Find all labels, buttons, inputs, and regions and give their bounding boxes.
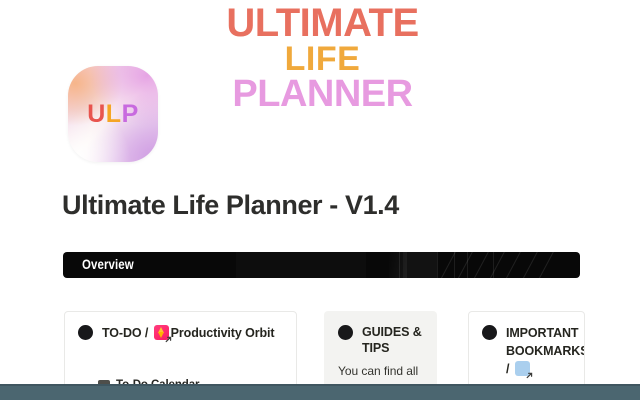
logo-letter-l: L <box>106 100 122 128</box>
page-title[interactable]: Ultimate Life Planner - V1.4 <box>62 190 399 221</box>
card-title-suffix: Productivity Orbit <box>171 326 275 340</box>
bullet-dot-icon <box>338 325 353 340</box>
logo-letter-p: P <box>122 100 139 128</box>
card-title-prefix: TO-DO / <box>102 326 152 340</box>
card-title-slash: / <box>506 362 513 376</box>
overview-banner[interactable]: Overview <box>63 252 580 278</box>
ulp-logo-text: ULP <box>87 100 139 129</box>
blue-chip-icon <box>515 361 530 376</box>
logo-letter-u: U <box>87 100 106 128</box>
bolt-chip-icon <box>154 325 169 340</box>
card-title-wrap: IMPORTANT BOOKMARKS / <box>506 324 571 378</box>
external-link-arrow-icon <box>525 371 534 380</box>
card-title-line2: BOOKMARKS <box>506 344 585 358</box>
page-root: ULP ULTIMATE LIFE PLANNER Ultimate Life … <box>0 0 640 400</box>
wordmark-line-ultimate: ULTIMATE <box>215 4 430 43</box>
bullet-dot-icon <box>78 325 93 340</box>
bottom-app-strip[interactable] <box>0 386 640 400</box>
hero-banner: ULP ULTIMATE LIFE PLANNER <box>0 0 640 180</box>
card-header: TO-DO / Productivity Orbit <box>78 324 283 342</box>
card-title-line1: IMPORTANT <box>506 326 578 340</box>
card-title: GUIDES & TIPS <box>362 324 423 356</box>
bullet-dot-icon <box>482 325 497 340</box>
card-header: IMPORTANT BOOKMARKS / <box>482 324 571 378</box>
hero-wordmark: ULTIMATE LIFE PLANNER <box>215 4 430 113</box>
overview-banner-texture <box>63 252 580 278</box>
card-header: GUIDES & TIPS <box>338 324 423 356</box>
external-link-arrow-icon <box>164 335 173 344</box>
wordmark-line-planner: PLANNER <box>215 76 430 113</box>
wordmark-line-life: LIFE <box>215 43 430 76</box>
ulp-logo: ULP <box>68 66 158 162</box>
card-title-wrap: TO-DO / Productivity Orbit <box>102 324 274 342</box>
overview-label: Overview <box>82 256 134 272</box>
